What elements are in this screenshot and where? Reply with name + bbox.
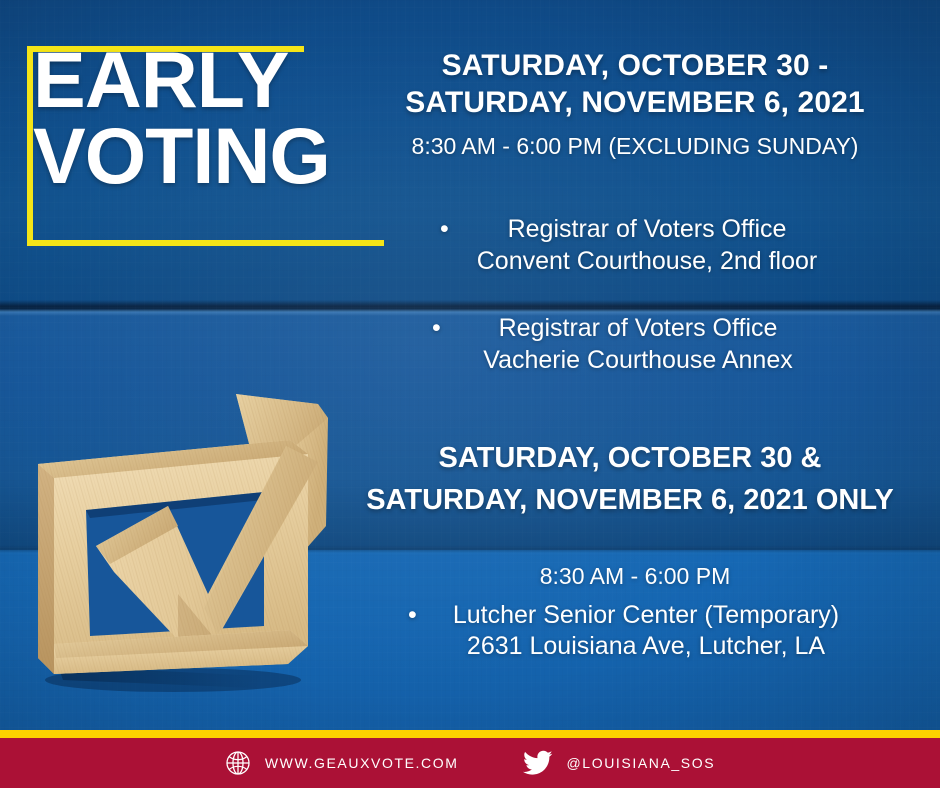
wooden-checkbox-image xyxy=(18,358,358,698)
location-address: Vacherie Courthouse Annex xyxy=(330,345,940,377)
location-address: 2631 Louisiana Ave, Lutcher, LA xyxy=(330,631,940,663)
primary-date-line-2: SATURDAY, NOVEMBER 6, 2021 xyxy=(405,86,864,119)
twitter-bird-icon xyxy=(523,750,553,776)
location-address: Convent Courthouse, 2nd floor xyxy=(330,246,940,278)
primary-date-heading: SATURDAY, OCTOBER 30 - SATURDAY, NOVEMBE… xyxy=(330,48,940,121)
primary-date-line-1: SATURDAY, OCTOBER 30 - xyxy=(442,49,829,82)
secondary-hours: 8:30 AM - 6:00 PM xyxy=(330,562,940,592)
primary-date-block: SATURDAY, OCTOBER 30 - SATURDAY, NOVEMBE… xyxy=(330,48,940,162)
website-link[interactable]: WWW.GEAUXVOTE.COM xyxy=(225,750,459,776)
list-bullet: • xyxy=(440,214,449,246)
list-bullet: • xyxy=(408,600,417,632)
saturday-only-heading: SATURDAY, OCTOBER 30 & SATURDAY, NOVEMBE… xyxy=(320,437,940,521)
globe-icon xyxy=(225,750,251,776)
list-item: • Lutcher Senior Center (Temporary) 2631… xyxy=(330,600,940,663)
list-bullet: • xyxy=(432,313,441,345)
twitter-link[interactable]: @LOUISIANA_SOS xyxy=(523,750,716,776)
list-item: • Registrar of Voters Office Vacherie Co… xyxy=(330,313,940,376)
saturday-only-line-2: SATURDAY, NOVEMBER 6, 2021 ONLY xyxy=(366,484,894,516)
temporary-location-block: 8:30 AM - 6:00 PM • Lutcher Senior Cente… xyxy=(330,562,940,663)
saturday-only-line-1: SATURDAY, OCTOBER 30 & xyxy=(439,442,822,474)
early-voting-poster: EARLY VOTING SATURDAY, OCTOBER 30 - SATU… xyxy=(0,0,940,788)
twitter-label: @LOUISIANA_SOS xyxy=(567,755,716,771)
primary-hours: 8:30 AM - 6:00 PM (EXCLUDING SUNDAY) xyxy=(330,132,940,162)
list-item: • Registrar of Voters Office Convent Cou… xyxy=(330,214,940,277)
location-name: Registrar of Voters Office xyxy=(330,214,940,246)
footer-bar: WWW.GEAUXVOTE.COM @LOUISIANA_SOS xyxy=(0,738,940,788)
registrar-locations-list: • Registrar of Voters Office Convent Cou… xyxy=(330,214,940,376)
website-label: WWW.GEAUXVOTE.COM xyxy=(265,755,459,771)
location-name: Registrar of Voters Office xyxy=(330,313,940,345)
footer-yellow-rule xyxy=(0,730,940,738)
location-name: Lutcher Senior Center (Temporary) xyxy=(330,600,940,632)
